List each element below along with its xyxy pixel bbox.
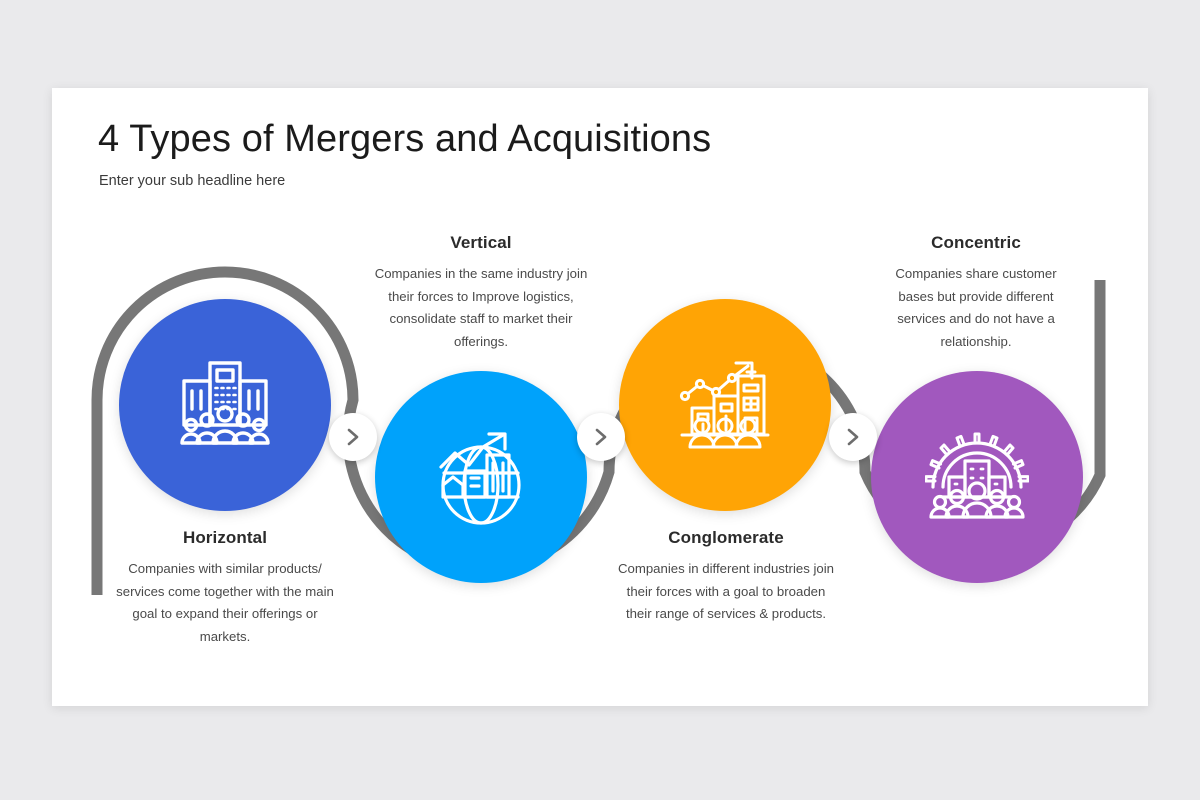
chart-buildings-people-icon — [672, 352, 778, 458]
step-label-vertical: Vertical — [372, 233, 590, 253]
step-label-concentric: Concentric — [880, 233, 1072, 253]
step-description-vertical: Companies in the same industry join thei… — [372, 263, 590, 353]
step-text-conglomerate: Conglomerate Companies in different indu… — [618, 528, 834, 626]
chevron-right-icon — [591, 427, 611, 447]
step-description-conglomerate: Companies in different industries join t… — [618, 558, 834, 626]
step-description-horizontal: Companies with similar products/ service… — [115, 558, 335, 648]
office-buildings-people-icon — [173, 353, 277, 457]
step-circle-vertical[interactable] — [375, 371, 587, 583]
step-text-horizontal: Horizontal Companies with similar produc… — [115, 528, 335, 648]
slide-stage: 4 Types of Mergers and Acquisitions Ente… — [0, 0, 1200, 800]
step-label-conglomerate: Conglomerate — [618, 528, 834, 548]
step-description-concentric: Companies share customer bases but provi… — [880, 263, 1072, 353]
step-circle-conglomerate[interactable] — [619, 299, 831, 511]
chevron-right-icon — [343, 427, 363, 447]
step-text-vertical: Vertical Companies in the same industry … — [372, 233, 590, 353]
step-circle-horizontal[interactable] — [119, 299, 331, 511]
connector-chevron-1[interactable] — [329, 413, 377, 461]
page-title: 4 Types of Mergers and Acquisitions — [98, 118, 711, 161]
connector-chevron-3[interactable] — [829, 413, 877, 461]
chevron-right-icon — [843, 427, 863, 447]
step-circle-concentric[interactable] — [871, 371, 1083, 583]
step-label-horizontal: Horizontal — [115, 528, 335, 548]
growth-arrow-city-globe-icon — [429, 425, 533, 529]
gear-building-people-icon — [925, 425, 1029, 529]
connector-chevron-2[interactable] — [577, 413, 625, 461]
step-text-concentric: Concentric Companies share customer base… — [880, 233, 1072, 353]
page-subtitle: Enter your sub headline here — [99, 173, 285, 189]
